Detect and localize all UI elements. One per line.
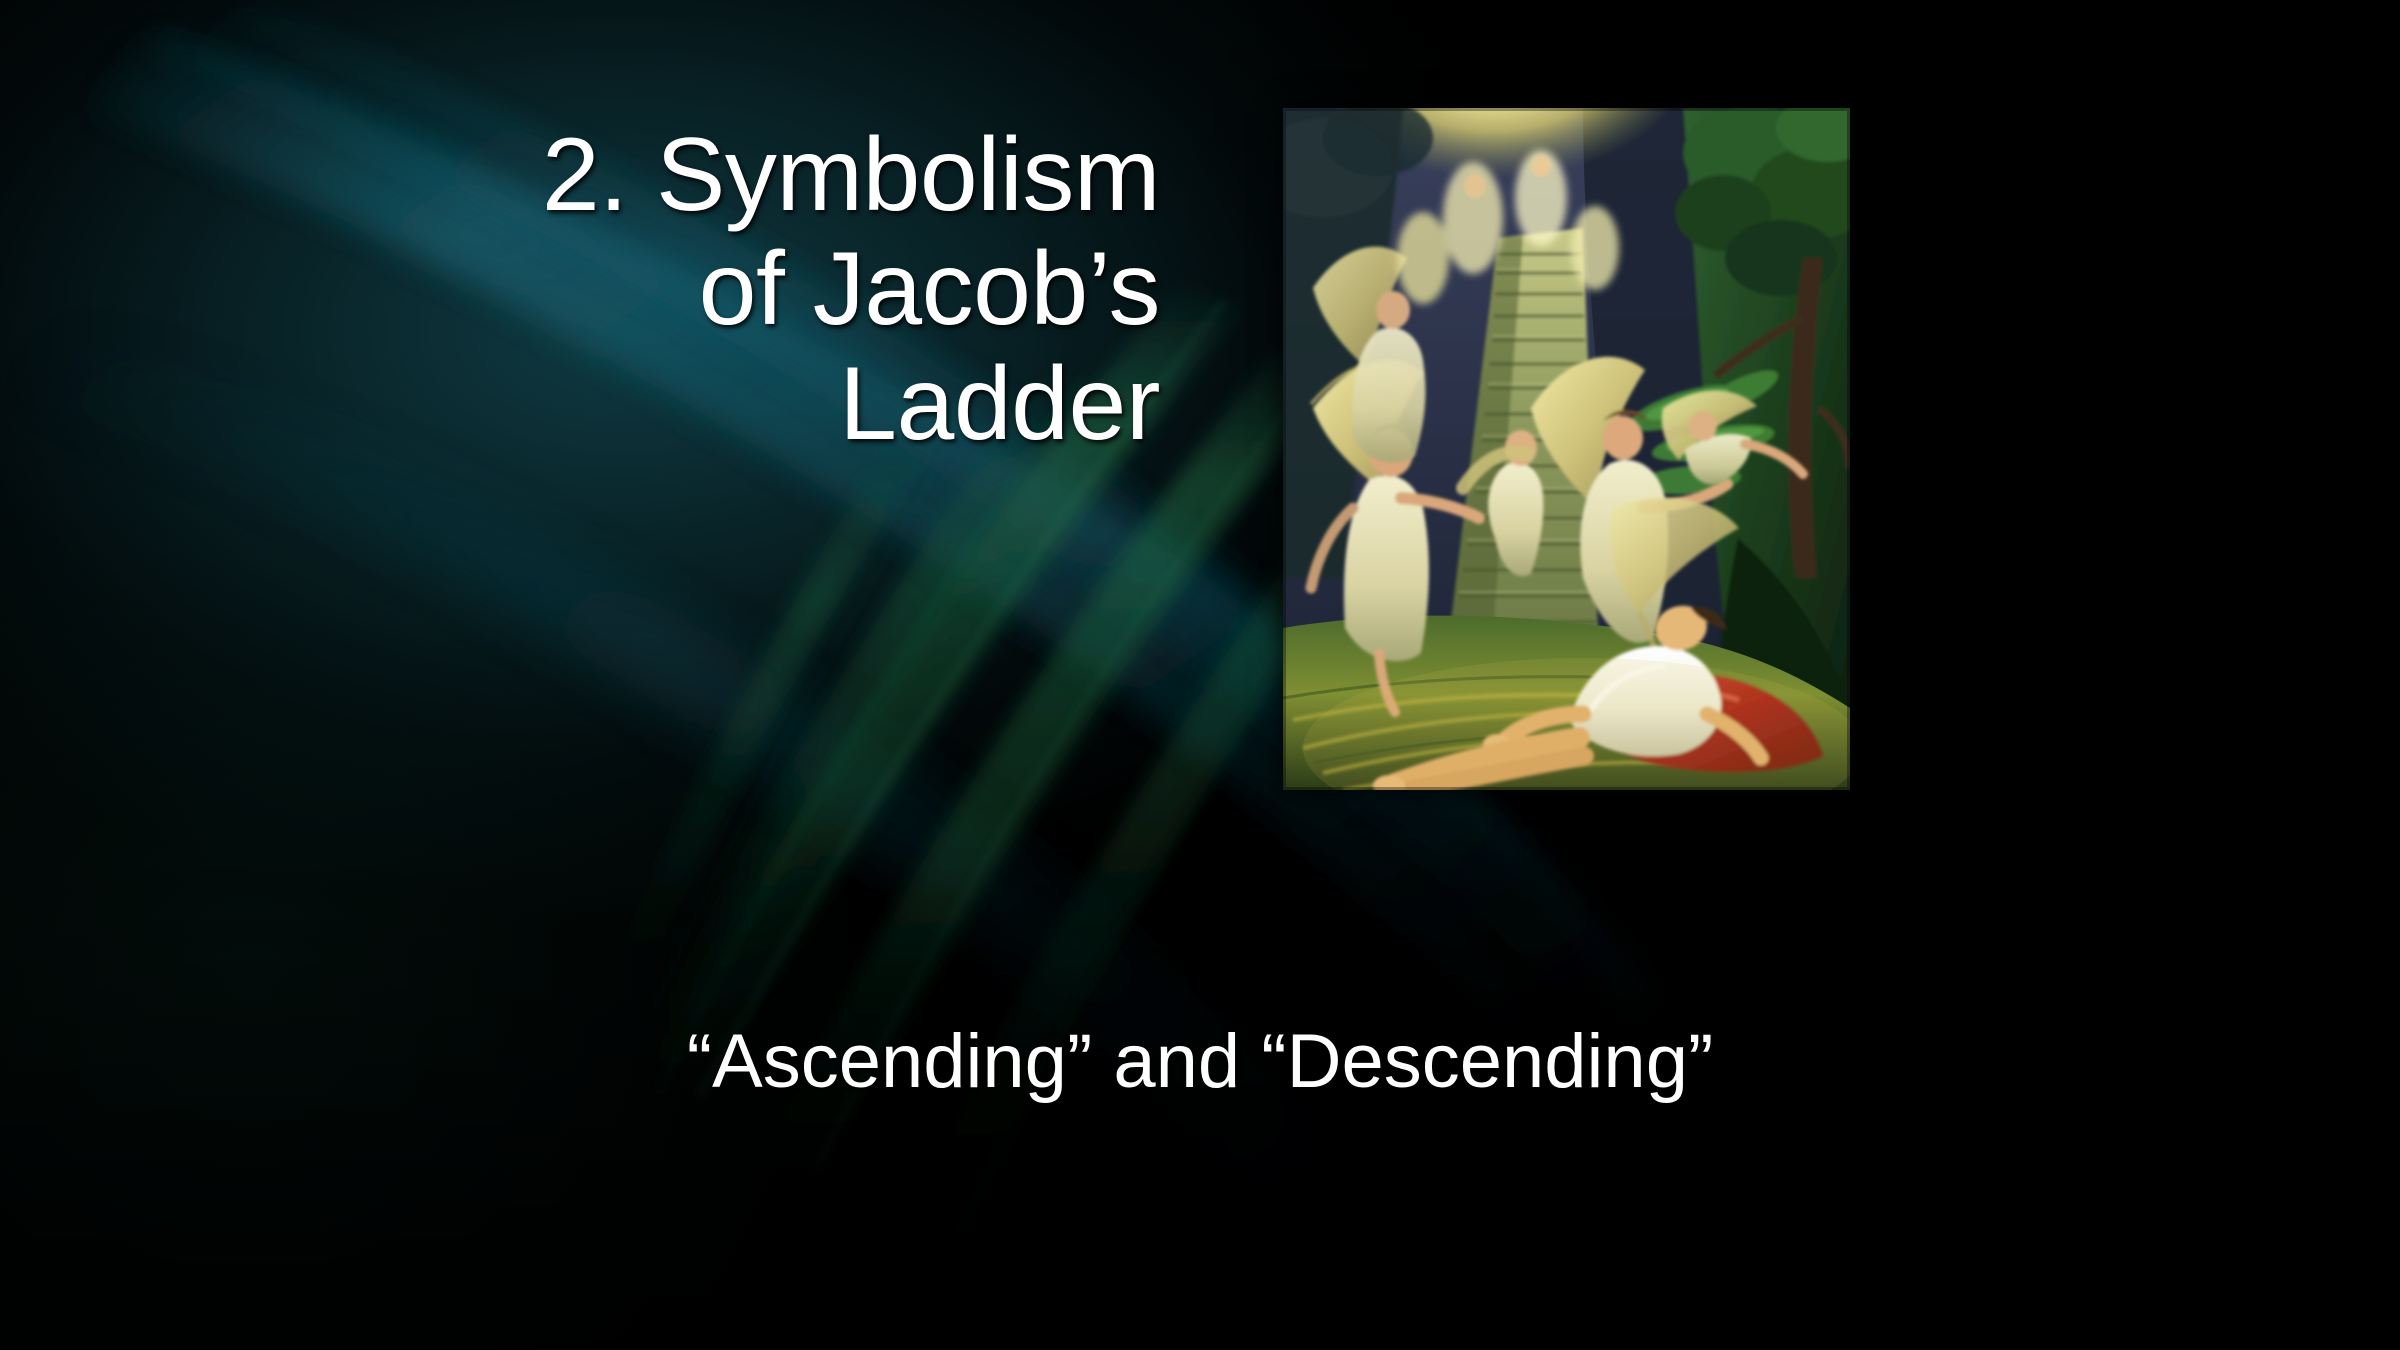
presentation-slide: 2. Symbolism of Jacob’s Ladder [0, 0, 2400, 1350]
slide-title: 2. Symbolism of Jacob’s Ladder [180, 118, 1160, 461]
slide-subtitle: “Ascending” and “Descending” [0, 1018, 2400, 1105]
jacobs-ladder-image [1283, 108, 1850, 790]
jacobs-ladder-illustration [1283, 108, 1850, 790]
